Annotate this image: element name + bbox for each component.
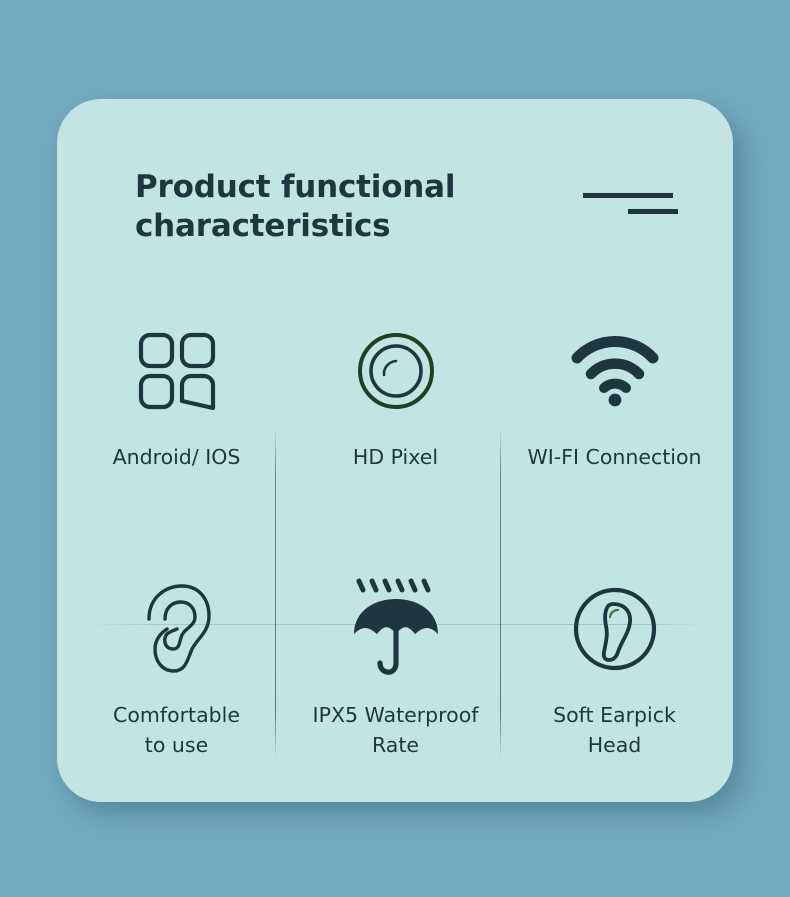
feature-label: Comfortable to use [64, 701, 289, 760]
ear-icon [141, 569, 213, 689]
feature-item-comfortable[interactable]: Comfortable to use [64, 535, 289, 780]
feature-label: WI-FI Connection [502, 443, 727, 473]
rule-short [628, 209, 678, 214]
page-title: Product functional characteristics [135, 168, 535, 246]
feature-label: HD Pixel [283, 443, 508, 473]
feature-label: Android/ IOS [64, 443, 289, 473]
feature-label: IPX5 Waterproof Rate [283, 701, 508, 760]
card-header: Product functional characteristics [57, 99, 733, 289]
feature-item-hd-pixel[interactable]: HD Pixel [283, 289, 508, 534]
double-rule-icon [583, 185, 695, 219]
umbrella-rain-icon [350, 569, 442, 689]
rule-long [583, 193, 673, 198]
feature-grid: Android/ IOS HD Pixel [57, 289, 733, 802]
earpick-head-icon [572, 569, 658, 689]
product-features-card: Product functional characteristics Andro… [57, 99, 733, 802]
feature-item-android-ios[interactable]: Android/ IOS [64, 289, 289, 534]
feature-item-waterproof[interactable]: IPX5 Waterproof Rate [283, 535, 508, 780]
feature-label: Soft Earpick Head [502, 701, 727, 760]
feature-item-earpick[interactable]: Soft Earpick Head [502, 535, 727, 780]
apps-grid-icon [135, 311, 219, 431]
camera-lens-icon [356, 311, 436, 431]
feature-item-wifi[interactable]: WI-FI Connection [502, 289, 727, 534]
wifi-icon [571, 311, 659, 431]
